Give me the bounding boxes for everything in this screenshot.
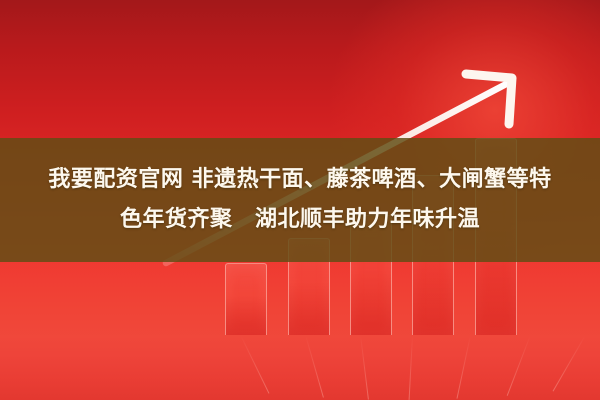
headline-band: 我要配资官网 非遗热干面、藤茶啤酒、大闸蟹等特 色年货齐聚 湖北顺丰助力年味升温: [0, 138, 600, 262]
headline-line-2: 色年货齐聚 湖北顺丰助力年味升温: [4, 200, 596, 240]
headline-line-1: 我要配资官网 非遗热干面、藤茶啤酒、大闸蟹等特: [4, 160, 596, 200]
promo-banner: 我要配资官网 非遗热干面、藤茶啤酒、大闸蟹等特 色年货齐聚 湖北顺丰助力年味升温: [0, 0, 600, 400]
chart-bar: [225, 263, 267, 335]
headline-text: 我要配资官网 非遗热干面、藤茶啤酒、大闸蟹等特 色年货齐聚 湖北顺丰助力年味升温: [0, 160, 600, 240]
